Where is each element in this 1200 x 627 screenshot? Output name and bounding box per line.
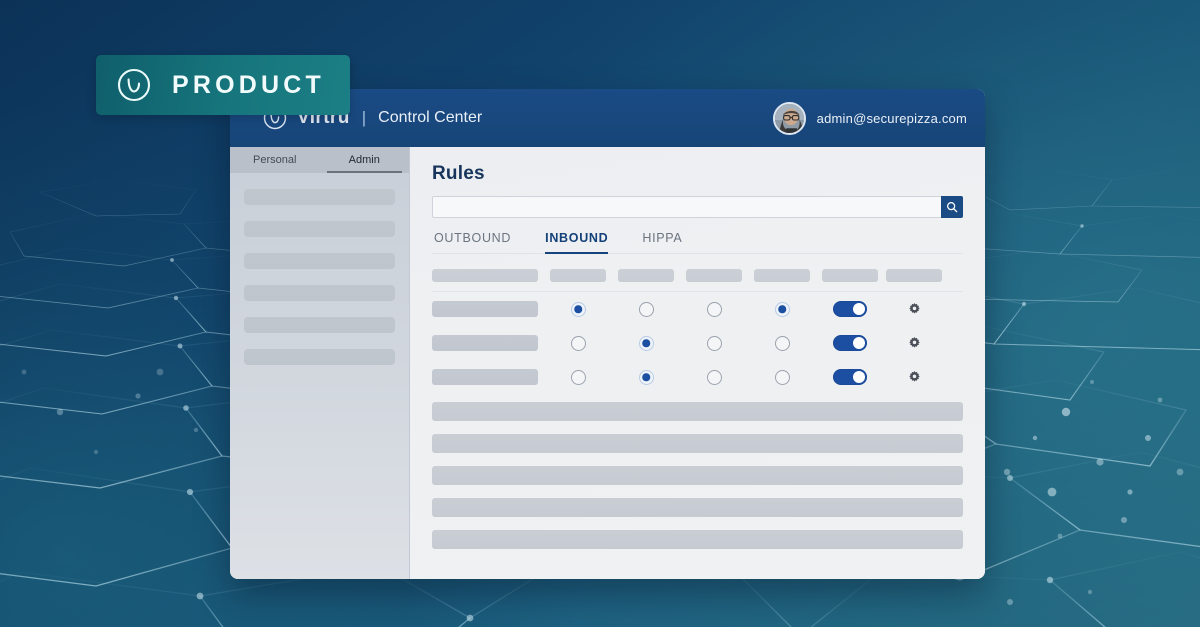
rule-name-cell: [432, 369, 544, 385]
app-body: Personal Admin Rules: [230, 147, 985, 579]
sidebar-nav-placeholder[interactable]: [244, 349, 395, 365]
table-header-cell: [432, 269, 544, 282]
rule-enable-cell: [816, 335, 884, 351]
table-row-placeholder[interactable]: [432, 466, 963, 485]
sidebar-nav-placeholder[interactable]: [244, 221, 395, 237]
table-header-cell: [544, 269, 612, 282]
rule-radio-option-1[interactable]: [571, 336, 586, 351]
rule-settings-cell: [884, 302, 944, 317]
sidebar-nav-placeholder-list: [230, 173, 409, 365]
rule-settings-cell: [884, 336, 944, 351]
table-row-placeholder[interactable]: [432, 402, 963, 421]
app-subtitle: Control Center: [378, 109, 482, 127]
search-bar: [432, 196, 963, 218]
rule-option-cell: [544, 336, 612, 351]
table-row-placeholder[interactable]: [432, 530, 963, 549]
sidebar-nav-placeholder[interactable]: [244, 253, 395, 269]
table-header-cell: [748, 269, 816, 282]
search-button[interactable]: [941, 196, 963, 218]
rule-option-cell: [748, 370, 816, 385]
sidebar-scope-tabs: Personal Admin: [230, 147, 409, 173]
gear-icon[interactable]: [907, 370, 922, 385]
rule-option-cell: [680, 336, 748, 351]
rule-radio-option-4[interactable]: [775, 370, 790, 385]
rule-option-cell: [544, 370, 612, 385]
tab-hippa[interactable]: HIPPA: [642, 231, 682, 253]
tab-hippa-label: HIPPA: [642, 231, 682, 245]
rule-radio-option-3[interactable]: [707, 302, 722, 317]
column-header-placeholder: [822, 269, 878, 282]
main-content: Rules OUTBOUND INBOUND: [410, 147, 985, 579]
tab-inbound-label: INBOUND: [545, 231, 608, 245]
search-icon: [946, 201, 958, 213]
column-header-placeholder: [686, 269, 742, 282]
table-header-cell: [884, 269, 944, 282]
user-avatar-photo: [775, 104, 806, 135]
sidebar-nav-placeholder[interactable]: [244, 285, 395, 301]
rules-table-placeholder-rows: [432, 402, 963, 562]
table-row: [432, 292, 963, 326]
table-header-cell: [680, 269, 748, 282]
rule-enable-toggle[interactable]: [833, 335, 867, 351]
toggle-knob: [853, 303, 865, 315]
rule-name-cell: [432, 335, 544, 351]
table-column-header-row: [432, 266, 963, 285]
rule-radio-option-1[interactable]: [571, 370, 586, 385]
sidebar-nav-placeholder[interactable]: [244, 189, 395, 205]
rule-option-cell: [680, 370, 748, 385]
rule-settings-cell: [884, 370, 944, 385]
rule-enable-toggle[interactable]: [833, 301, 867, 317]
sidebar: Personal Admin: [230, 147, 410, 579]
sidebar-tab-personal[interactable]: Personal: [230, 147, 320, 173]
toggle-knob: [853, 337, 865, 349]
rule-option-cell: [544, 302, 612, 317]
rule-option-cell: [748, 336, 816, 351]
rule-radio-option-4[interactable]: [775, 302, 790, 317]
rule-radio-option-2[interactable]: [639, 336, 654, 351]
rule-name-placeholder: [432, 369, 538, 385]
product-badge-label: PRODUCT: [172, 71, 325, 100]
rule-option-cell: [612, 336, 680, 351]
sidebar-nav-placeholder[interactable]: [244, 317, 395, 333]
rule-radio-option-4[interactable]: [775, 336, 790, 351]
rule-option-cell: [612, 302, 680, 317]
rules-table-body: [432, 292, 963, 394]
rule-name-cell: [432, 301, 544, 317]
table-row: [432, 326, 963, 360]
sidebar-tab-admin[interactable]: Admin: [320, 147, 410, 173]
rule-enable-toggle[interactable]: [833, 369, 867, 385]
rule-option-cell: [680, 302, 748, 317]
rule-radio-option-3[interactable]: [707, 370, 722, 385]
column-header-placeholder: [754, 269, 810, 282]
column-header-placeholder: [550, 269, 606, 282]
table-header-cell: [816, 269, 884, 282]
rule-enable-cell: [816, 369, 884, 385]
rule-radio-option-1[interactable]: [571, 302, 586, 317]
brand-divider: |: [362, 108, 366, 128]
sidebar-tab-admin-label: Admin: [349, 154, 380, 166]
table-row-placeholder[interactable]: [432, 498, 963, 517]
table-row-placeholder[interactable]: [432, 434, 963, 453]
sidebar-tab-personal-label: Personal: [253, 154, 296, 166]
search-input[interactable]: [432, 196, 941, 218]
column-header-placeholder: [618, 269, 674, 282]
rule-radio-option-2[interactable]: [639, 302, 654, 317]
rule-name-placeholder: [432, 335, 538, 351]
account-email: admin@securepizza.com: [817, 111, 967, 126]
column-header-placeholder: [432, 269, 538, 282]
product-badge: PRODUCT: [96, 55, 350, 115]
page-background: PRODUCT Virtru | Control Center: [0, 0, 1200, 627]
rule-option-cell: [612, 370, 680, 385]
rule-enable-cell: [816, 301, 884, 317]
rule-radio-option-3[interactable]: [707, 336, 722, 351]
control-center-app-card: Virtru | Control Center: [230, 89, 985, 579]
table-header-cell: [612, 269, 680, 282]
gear-icon[interactable]: [907, 336, 922, 351]
column-header-placeholder: [886, 269, 942, 282]
gear-icon[interactable]: [907, 302, 922, 317]
rule-name-placeholder: [432, 301, 538, 317]
rules-direction-tabs: OUTBOUND INBOUND HIPPA: [432, 231, 963, 254]
tab-outbound-label: OUTBOUND: [434, 231, 511, 245]
tab-inbound[interactable]: INBOUND: [545, 231, 608, 253]
table-row: [432, 360, 963, 394]
tab-outbound[interactable]: OUTBOUND: [434, 231, 511, 253]
rule-option-cell: [748, 302, 816, 317]
toggle-knob: [853, 371, 865, 383]
avatar[interactable]: [773, 102, 806, 135]
virtru-v-circle-icon: [116, 67, 152, 103]
page-title: Rules: [432, 163, 963, 185]
account-menu[interactable]: admin@securepizza.com: [773, 102, 967, 135]
rule-radio-option-2[interactable]: [639, 370, 654, 385]
